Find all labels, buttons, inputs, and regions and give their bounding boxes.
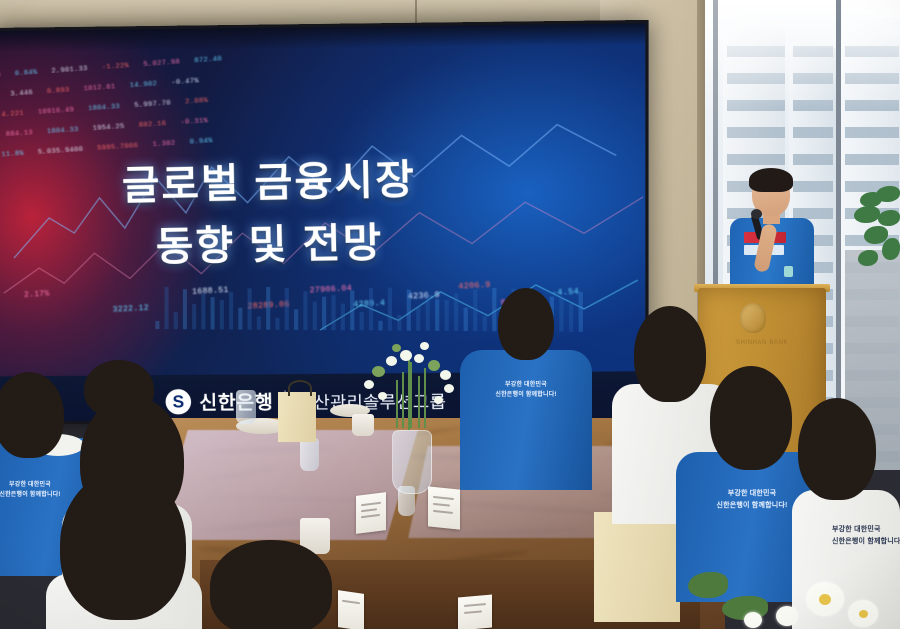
flower-bloom xyxy=(378,392,387,400)
coffee-cup xyxy=(352,414,374,436)
audience-head xyxy=(798,398,876,500)
gift-bag-handle xyxy=(288,380,312,396)
audience-head xyxy=(710,366,792,470)
audience-head xyxy=(0,372,64,458)
flower-stem xyxy=(396,380,398,428)
seminar-photo: 1,234.560.84%2,901.33-1.22%5,027.98872.4… xyxy=(0,0,900,629)
audience-shirt-text: 부강한 대한민국 신한은행이 함께합니다! xyxy=(474,380,578,400)
audience-shirt xyxy=(460,350,592,490)
flower-bloom xyxy=(400,350,412,361)
audience-member xyxy=(46,470,202,629)
audience-head xyxy=(60,470,186,620)
flower-bloom xyxy=(364,380,374,389)
microphone-head xyxy=(751,209,762,219)
audience-head xyxy=(84,360,154,418)
speaker-badge xyxy=(784,266,793,277)
potted-plant xyxy=(852,186,900,336)
flower-stem xyxy=(410,362,412,428)
flower-bloom xyxy=(434,396,443,404)
audience-shirt-text: 부강한 대한민국 신한은행이 함께합니다! xyxy=(832,524,900,548)
audience-member xyxy=(84,360,164,430)
place-card xyxy=(428,486,460,529)
flower-stem xyxy=(402,372,404,428)
glass-vase xyxy=(392,430,432,494)
screen-title-line2: 동향 및 전망 xyxy=(0,209,553,281)
flower-stem xyxy=(408,356,410,430)
place-card xyxy=(338,590,364,629)
gift-bag xyxy=(594,512,680,622)
audience-head xyxy=(498,288,554,360)
water-bottle xyxy=(300,438,319,471)
flower-bloom xyxy=(414,354,424,363)
flower-bloom xyxy=(420,342,429,350)
water-bottle xyxy=(236,390,256,424)
gift-bag xyxy=(278,392,316,442)
audience-head xyxy=(210,540,332,629)
audience-member: 부강한 대한민국 신한은행이 함께합니다! xyxy=(460,288,592,488)
speaker xyxy=(722,168,822,296)
audience-member xyxy=(210,540,340,629)
flower-bloom xyxy=(372,366,385,377)
flower-bloom xyxy=(386,356,397,366)
flower-stem xyxy=(418,376,420,428)
flower-bloom xyxy=(440,370,451,380)
podium-emblem-icon xyxy=(740,303,766,333)
place-card xyxy=(458,595,492,629)
flower-bloom xyxy=(444,384,454,393)
place-card xyxy=(356,492,386,534)
screen-title-line1: 글로벌 금융시장 xyxy=(121,158,416,209)
flower-bloom xyxy=(428,360,440,371)
speaker-hair xyxy=(749,168,793,192)
flower-stem xyxy=(424,368,426,428)
screen-title: 글로벌 금융시장 동향 및 전망 xyxy=(0,146,553,281)
flower-bloom xyxy=(392,344,401,352)
